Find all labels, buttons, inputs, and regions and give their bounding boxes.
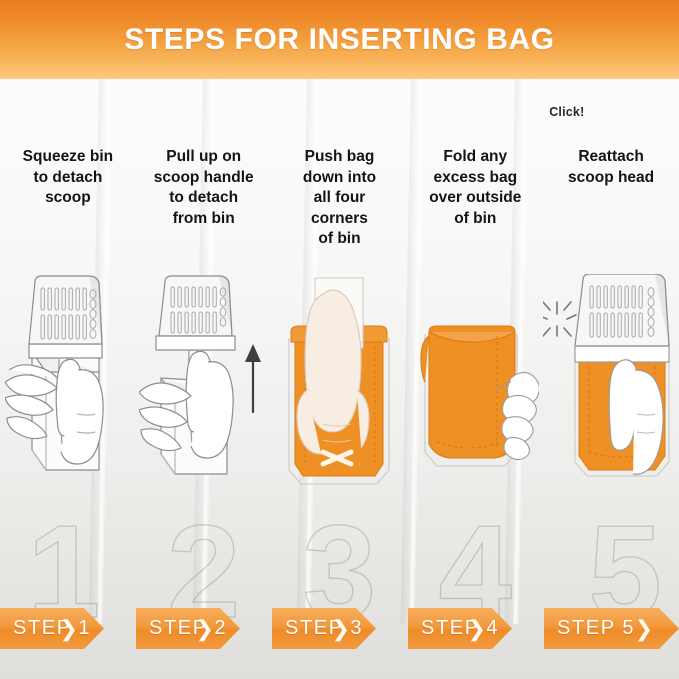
header-banner: STEPS FOR INSERTING BAG bbox=[0, 0, 679, 79]
step-caption-5: Reattach scoop head bbox=[543, 147, 679, 188]
up-arrow-icon bbox=[245, 344, 261, 412]
chevron-right-icon: ❯ bbox=[468, 618, 486, 640]
step-illustration-1 bbox=[0, 274, 136, 504]
chevron-right-icon: ❯ bbox=[332, 618, 350, 640]
chevron-right-icon: ❯ bbox=[60, 618, 78, 640]
step-caption-3: Push bag down into all four corners of b… bbox=[272, 147, 408, 250]
step-illustration-5 bbox=[543, 274, 679, 504]
chevron-right-icon: ❯ bbox=[635, 618, 653, 640]
instruction-graphic: STEPS FOR INSERTING BAG Squeeze bin to d… bbox=[0, 0, 679, 679]
step-caption-4: Fold any excess bag over outside of bin bbox=[407, 147, 543, 229]
spark-icon bbox=[543, 302, 576, 336]
chevron-right-icon: ❯ bbox=[196, 618, 214, 640]
step-panel-3: Push bag down into all four corners of b… bbox=[272, 79, 408, 624]
step-illustration-3 bbox=[272, 274, 408, 504]
step-banner-4[interactable]: STEP 4 ❯ bbox=[408, 608, 512, 649]
page-title: STEPS FOR INSERTING BAG bbox=[124, 25, 555, 55]
step-illustration-4 bbox=[407, 274, 543, 504]
step-banner-1[interactable]: STEP 1 ❯ bbox=[0, 608, 104, 649]
step-panel-2: Pull up on scoop handle to detach from b… bbox=[136, 79, 272, 624]
click-annotation: Click! bbox=[549, 105, 584, 119]
steps-columns: Squeeze bin to detach scoop bbox=[0, 79, 679, 624]
step-banner-2[interactable]: STEP 2 ❯ bbox=[136, 608, 240, 649]
step-illustration-2 bbox=[136, 274, 272, 504]
step-caption-2: Pull up on scoop handle to detach from b… bbox=[136, 147, 272, 229]
step-banner-3[interactable]: STEP 3 ❯ bbox=[272, 608, 376, 649]
step-panel-5: Reattach scoop head bbox=[543, 79, 679, 624]
step-banner-strip: STEP 1 ❯ STEP 2 ❯ STEP 3 ❯ STEP 4 ❯ STEP… bbox=[0, 608, 679, 649]
step-banner-5[interactable]: STEP 5 ❯ bbox=[544, 608, 679, 649]
step-caption-1: Squeeze bin to detach scoop bbox=[0, 147, 136, 209]
step-panel-1: Squeeze bin to detach scoop bbox=[0, 79, 136, 624]
step-banner-label-5: STEP 5 bbox=[544, 617, 635, 640]
step-panel-4: Fold any excess bag over outside of bin bbox=[407, 79, 543, 624]
